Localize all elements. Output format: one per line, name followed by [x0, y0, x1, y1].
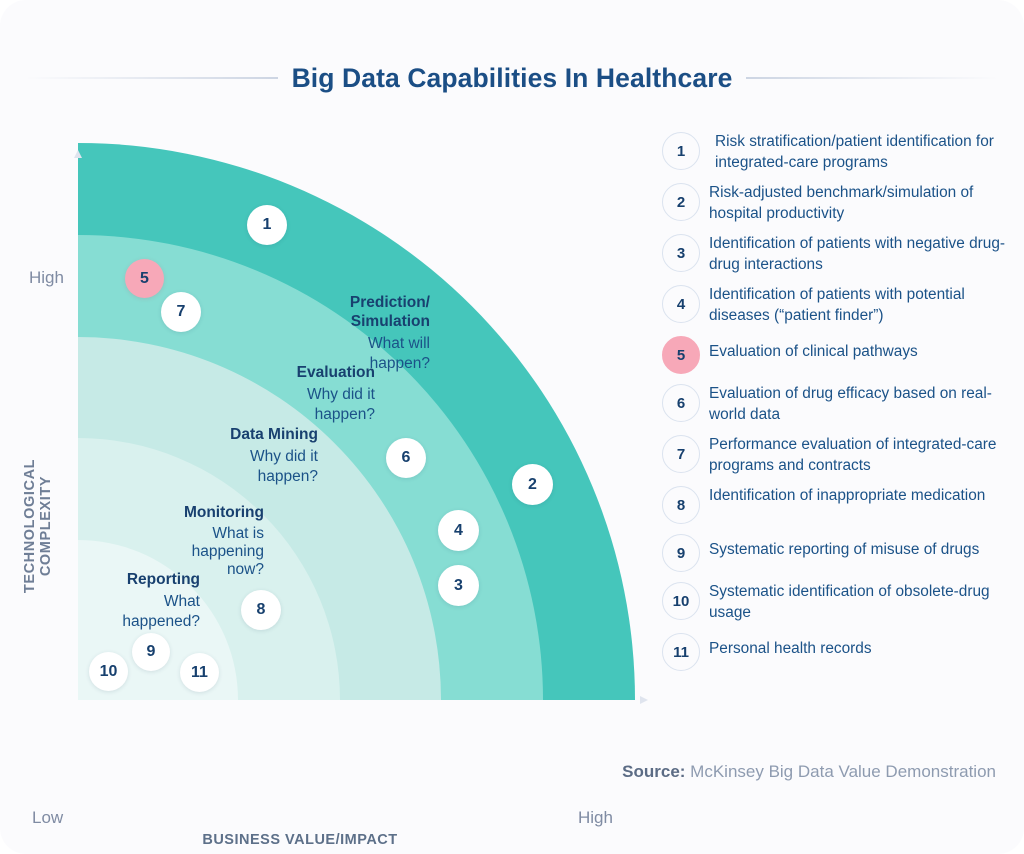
source-line: Source: McKinsey Big Data Value Demonstr… — [622, 762, 996, 782]
band-title-datamining: Data Mining — [185, 425, 318, 444]
x-axis-high-label: High — [578, 808, 613, 828]
legend-item-11[interactable]: 11Personal health records — [662, 633, 1010, 671]
band-title-prediction: Prediction/Simulation — [300, 293, 430, 331]
legend-item-5[interactable]: 5Evaluation of clinical pathways — [662, 336, 1010, 374]
legend-label-9: Systematic reporting of misuse of drugs — [709, 534, 979, 561]
y-axis-low-label: Low — [32, 808, 63, 828]
legend-item-6[interactable]: 6Evaluation of drug efficacy based on re… — [662, 384, 1010, 425]
band-label-evaluation: Evaluation Why did ithappen? — [250, 363, 375, 424]
band-question-evaluation: Why did ithappen? — [250, 385, 375, 424]
legend: 1Risk stratification/patient identificat… — [662, 132, 1010, 681]
legend-label-10: Systematic identification of obsolete-dr… — [709, 582, 1010, 623]
source-text: McKinsey Big Data Value Demonstration — [685, 762, 996, 781]
title-rule-left — [26, 77, 278, 79]
chart-bubble-1[interactable]: 1 — [247, 205, 287, 245]
arc-bands-svg — [0, 120, 660, 740]
legend-item-9[interactable]: 9Systematic reporting of misuse of drugs — [662, 534, 1010, 572]
page-title: Big Data Capabilities In Healthcare — [292, 63, 733, 94]
legend-label-1: Risk stratification/patient identificati… — [709, 132, 1010, 173]
legend-badge-8: 8 — [662, 486, 700, 524]
chart-bubble-8[interactable]: 8 — [241, 590, 281, 630]
y-axis-high-label: High — [29, 268, 64, 288]
legend-label-4: Identification of patients with potentia… — [709, 285, 1010, 326]
chart-bubble-3[interactable]: 3 — [438, 565, 479, 606]
band-label-prediction: Prediction/Simulation What willhappen? — [300, 293, 430, 373]
infographic-page: Big Data Capabilities In Healthcare — [0, 0, 1024, 854]
x-axis-title: BUSINESS VALUE/IMPACT — [100, 832, 500, 848]
legend-badge-7: 7 — [662, 435, 700, 473]
header: Big Data Capabilities In Healthcare — [0, 52, 1024, 104]
legend-label-5: Evaluation of clinical pathways — [709, 336, 918, 363]
legend-item-4[interactable]: 4Identification of patients with potenti… — [662, 285, 1010, 326]
legend-badge-11: 11 — [662, 633, 700, 671]
chart-bubble-11[interactable]: 11 — [180, 653, 219, 692]
band-label-monitoring: Monitoring What ishappeningnow? — [133, 503, 264, 579]
legend-badge-5: 5 — [662, 336, 700, 374]
legend-item-2[interactable]: 2Risk-adjusted benchmark/simulation of h… — [662, 183, 1010, 224]
chart-bubble-5[interactable]: 5 — [125, 259, 164, 298]
band-title-reporting: Reporting — [60, 570, 200, 589]
legend-badge-6: 6 — [662, 384, 700, 422]
legend-badge-2: 2 — [662, 183, 700, 221]
chart-bubble-6[interactable]: 6 — [386, 438, 426, 478]
legend-item-1[interactable]: 1Risk stratification/patient identificat… — [662, 132, 1010, 173]
legend-badge-3: 3 — [662, 234, 700, 272]
band-label-datamining: Data Mining Why did ithappen? — [185, 425, 318, 486]
legend-badge-4: 4 — [662, 285, 700, 323]
chart-bubble-4[interactable]: 4 — [438, 510, 479, 551]
chart-area: High Low High TECHNOLOGICAL COMPLEXITY B… — [0, 120, 660, 740]
legend-item-7[interactable]: 7Performance evaluation of integrated-ca… — [662, 435, 1010, 476]
band-question-datamining: Why did ithappen? — [185, 447, 318, 486]
source-label: Source: — [622, 762, 685, 781]
chart-bubble-9[interactable]: 9 — [132, 633, 170, 671]
legend-badge-1: 1 — [662, 132, 700, 170]
legend-item-8[interactable]: 8Identification of inappropriate medicat… — [662, 486, 1010, 524]
band-title-monitoring: Monitoring — [133, 503, 264, 522]
chart-bubble-10[interactable]: 10 — [89, 652, 128, 691]
band-title-evaluation: Evaluation — [250, 363, 375, 382]
chart-bubble-2[interactable]: 2 — [512, 464, 553, 505]
chart-bubble-7[interactable]: 7 — [161, 292, 201, 332]
legend-item-3[interactable]: 3Identification of patients with negativ… — [662, 234, 1010, 275]
legend-label-3: Identification of patients with negative… — [709, 234, 1010, 275]
legend-badge-10: 10 — [662, 582, 700, 620]
band-label-reporting: Reporting Whathappened? — [60, 570, 200, 631]
legend-label-7: Performance evaluation of integrated-car… — [709, 435, 1010, 476]
band-question-reporting: Whathappened? — [60, 592, 200, 631]
legend-badge-9: 9 — [662, 534, 700, 572]
legend-label-8: Identification of inappropriate medicati… — [709, 486, 985, 507]
title-rule-right — [746, 77, 998, 79]
legend-item-10[interactable]: 10Systematic identification of obsolete-… — [662, 582, 1010, 623]
legend-label-2: Risk-adjusted benchmark/simulation of ho… — [709, 183, 1010, 224]
legend-label-6: Evaluation of drug efficacy based on rea… — [709, 384, 1010, 425]
y-axis-title: TECHNOLOGICAL COMPLEXITY — [22, 431, 54, 621]
legend-label-11: Personal health records — [709, 633, 872, 660]
